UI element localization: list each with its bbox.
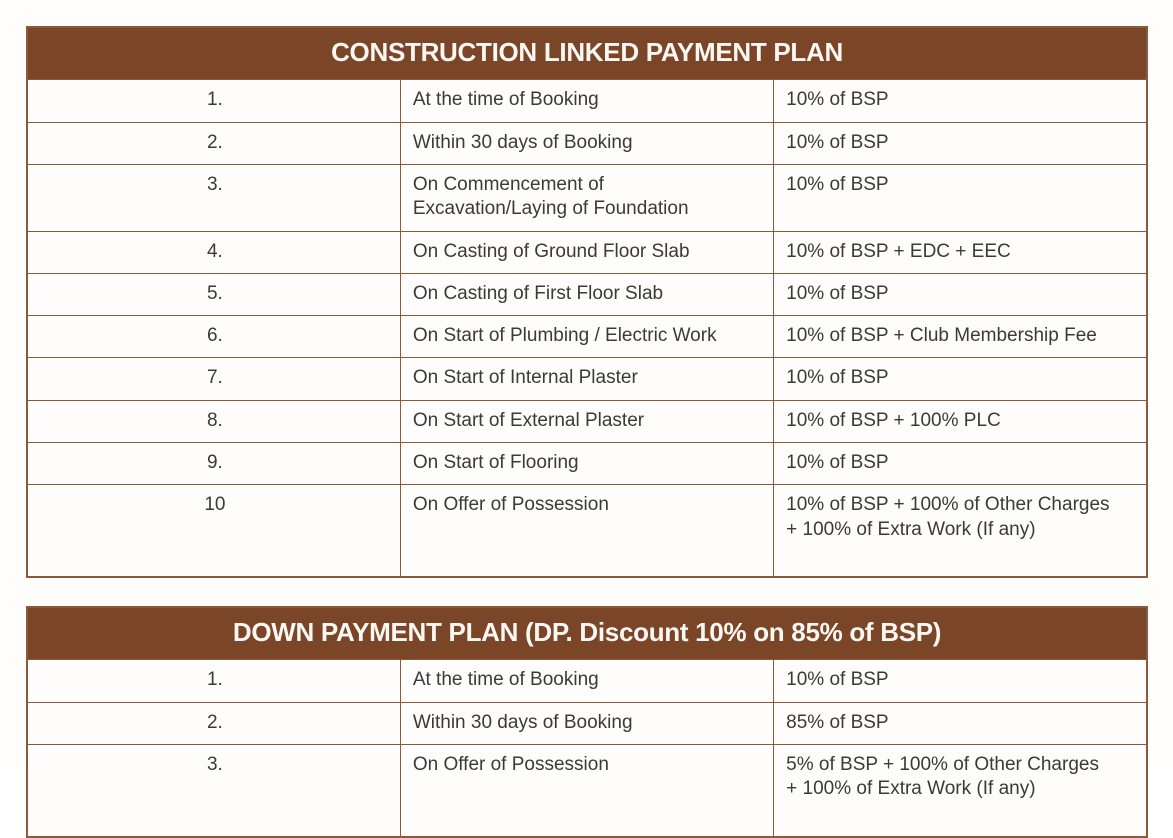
table-row: 1. At the time of Booking 10% of BSP (27, 80, 1147, 122)
row-stage: On Offer of Possession (400, 485, 773, 577)
table-title-row: CONSTRUCTION LINKED PAYMENT PLAN (27, 27, 1147, 80)
amount-line: 10% of BSP (786, 668, 1136, 692)
table-body: CONSTRUCTION LINKED PAYMENT PLAN 1. At t… (27, 27, 1147, 577)
row-serial-number: 6. (27, 316, 400, 358)
construction-linked-payment-plan-table: CONSTRUCTION LINKED PAYMENT PLAN 1. At t… (26, 26, 1148, 578)
row-amount: 10% of BSP (774, 273, 1147, 315)
amount-line: 10% of BSP (786, 173, 1136, 197)
table-row: 2. Within 30 days of Booking 10% of BSP (27, 122, 1147, 164)
amount-line: 10% of BSP (786, 88, 1136, 112)
row-stage: On Casting of First Floor Slab (400, 273, 773, 315)
table-title: DOWN PAYMENT PLAN (DP. Discount 10% on 8… (27, 607, 1147, 660)
row-stage: Within 30 days of Booking (400, 122, 773, 164)
amount-line: 10% of BSP + 100% of Other Charges (786, 493, 1136, 517)
row-serial-number: 3. (27, 164, 400, 231)
row-serial-number: 8. (27, 400, 400, 442)
down-payment-plan-table: DOWN PAYMENT PLAN (DP. Discount 10% on 8… (26, 606, 1148, 838)
amount-line: 10% of BSP + Club Membership Fee (786, 324, 1136, 348)
row-serial-number: 1. (27, 660, 400, 702)
row-serial-number: 3. (27, 744, 400, 836)
row-stage: At the time of Booking (400, 80, 773, 122)
row-serial-number: 10 (27, 485, 400, 577)
table-title-row: DOWN PAYMENT PLAN (DP. Discount 10% on 8… (27, 607, 1147, 660)
amount-line: 10% of BSP (786, 451, 1136, 475)
amount-line: + 100% of Extra Work (If any) (786, 777, 1136, 801)
table-body: DOWN PAYMENT PLAN (DP. Discount 10% on 8… (27, 607, 1147, 837)
row-amount: 10% of BSP + Club Membership Fee (774, 316, 1147, 358)
row-stage: On Casting of Ground Floor Slab (400, 231, 773, 273)
row-amount: 10% of BSP + 100% PLC (774, 400, 1147, 442)
row-stage: On Start of Flooring (400, 443, 773, 485)
table-title: CONSTRUCTION LINKED PAYMENT PLAN (27, 27, 1147, 80)
amount-line: 10% of BSP (786, 131, 1136, 155)
row-amount: 10% of BSP + EDC + EEC (774, 231, 1147, 273)
row-stage: On Start of External Plaster (400, 400, 773, 442)
table-row: 5. On Casting of First Floor Slab 10% of… (27, 273, 1147, 315)
table-row: 4. On Casting of Ground Floor Slab 10% o… (27, 231, 1147, 273)
table-row: 3. On Offer of Possession 5% of BSP + 10… (27, 744, 1147, 836)
amount-line: 10% of BSP + EDC + EEC (786, 240, 1136, 264)
table-row: 1. At the time of Booking 10% of BSP (27, 660, 1147, 702)
amount-line: + 100% of Extra Work (If any) (786, 518, 1136, 542)
row-amount: 85% of BSP (774, 702, 1147, 744)
row-amount: 10% of BSP (774, 358, 1147, 400)
row-serial-number: 2. (27, 702, 400, 744)
row-serial-number: 5. (27, 273, 400, 315)
table-row: 2. Within 30 days of Booking 85% of BSP (27, 702, 1147, 744)
row-serial-number: 2. (27, 122, 400, 164)
row-stage: On Start of Internal Plaster (400, 358, 773, 400)
table-row: 6. On Start of Plumbing / Electric Work … (27, 316, 1147, 358)
row-stage: At the time of Booking (400, 660, 773, 702)
amount-line: 10% of BSP (786, 366, 1136, 390)
table-row: 7. On Start of Internal Plaster 10% of B… (27, 358, 1147, 400)
row-serial-number: 7. (27, 358, 400, 400)
amount-line: 10% of BSP (786, 282, 1136, 306)
table-row: 8. On Start of External Plaster 10% of B… (27, 400, 1147, 442)
amount-line: 5% of BSP + 100% of Other Charges (786, 753, 1136, 777)
row-stage: On Start of Plumbing / Electric Work (400, 316, 773, 358)
amount-line: 10% of BSP + 100% PLC (786, 409, 1136, 433)
row-amount: 10% of BSP (774, 122, 1147, 164)
table-row: 3. On Commencement of Excavation/Laying … (27, 164, 1147, 231)
table-row: 9. On Start of Flooring 10% of BSP (27, 443, 1147, 485)
row-amount: 10% of BSP + 100% of Other Charges + 100… (774, 485, 1147, 577)
row-amount: 10% of BSP (774, 164, 1147, 231)
row-amount: 10% of BSP (774, 80, 1147, 122)
row-amount: 10% of BSP (774, 660, 1147, 702)
amount-line: 85% of BSP (786, 711, 1136, 735)
row-serial-number: 4. (27, 231, 400, 273)
row-amount: 5% of BSP + 100% of Other Charges + 100%… (774, 744, 1147, 836)
table-separator (26, 578, 1148, 606)
row-stage: On Offer of Possession (400, 744, 773, 836)
row-serial-number: 9. (27, 443, 400, 485)
table-row: 10 On Offer of Possession 10% of BSP + 1… (27, 485, 1147, 577)
payment-plan-document: CONSTRUCTION LINKED PAYMENT PLAN 1. At t… (0, 0, 1173, 768)
row-stage: On Commencement of Excavation/Laying of … (400, 164, 773, 231)
row-amount: 10% of BSP (774, 443, 1147, 485)
row-serial-number: 1. (27, 80, 400, 122)
row-stage: Within 30 days of Booking (400, 702, 773, 744)
